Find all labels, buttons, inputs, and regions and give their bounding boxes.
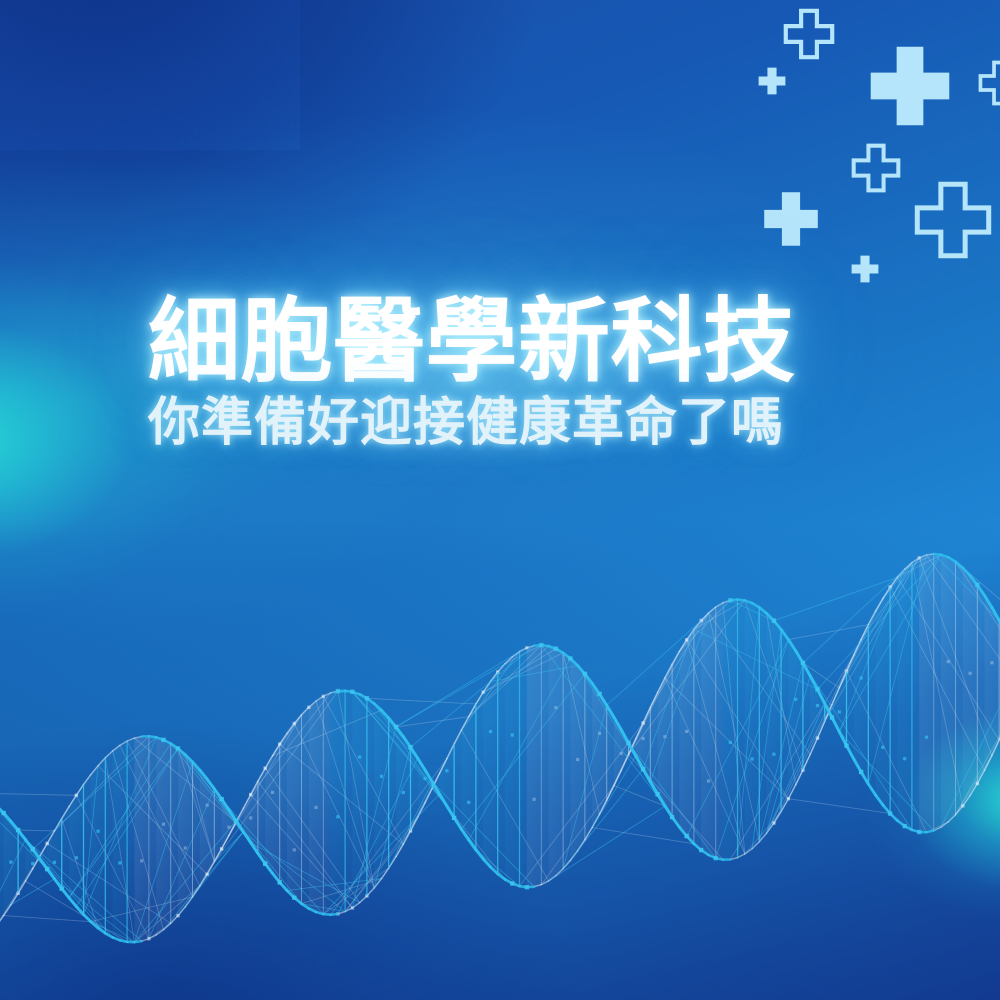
cross-outline-right-edge-icon	[978, 60, 1000, 106]
cross-filled-small-upper-icon	[757, 66, 787, 96]
cross-outline-medium-mid-icon	[851, 143, 901, 193]
cross-filled-left-mid-icon	[761, 189, 821, 249]
cross-filled-small-lower-icon	[850, 254, 880, 284]
poster-canvas: 細胞醫學新科技 你準備好迎接健康革命了嗎	[0, 0, 1000, 1000]
page-subtitle: 你準備好迎接健康革命了嗎	[148, 396, 848, 451]
headline-block: 細胞醫學新科技 你準備好迎接健康革命了嗎	[148, 296, 848, 450]
cross-outline-large-lower-icon	[913, 180, 993, 260]
dna-double-helix-wireframe	[0, 430, 1000, 1000]
page-title: 細胞醫學新科技	[148, 296, 848, 390]
cross-filled-large-top-icon	[866, 42, 954, 130]
cross-outline-top-left-icon	[783, 8, 835, 60]
